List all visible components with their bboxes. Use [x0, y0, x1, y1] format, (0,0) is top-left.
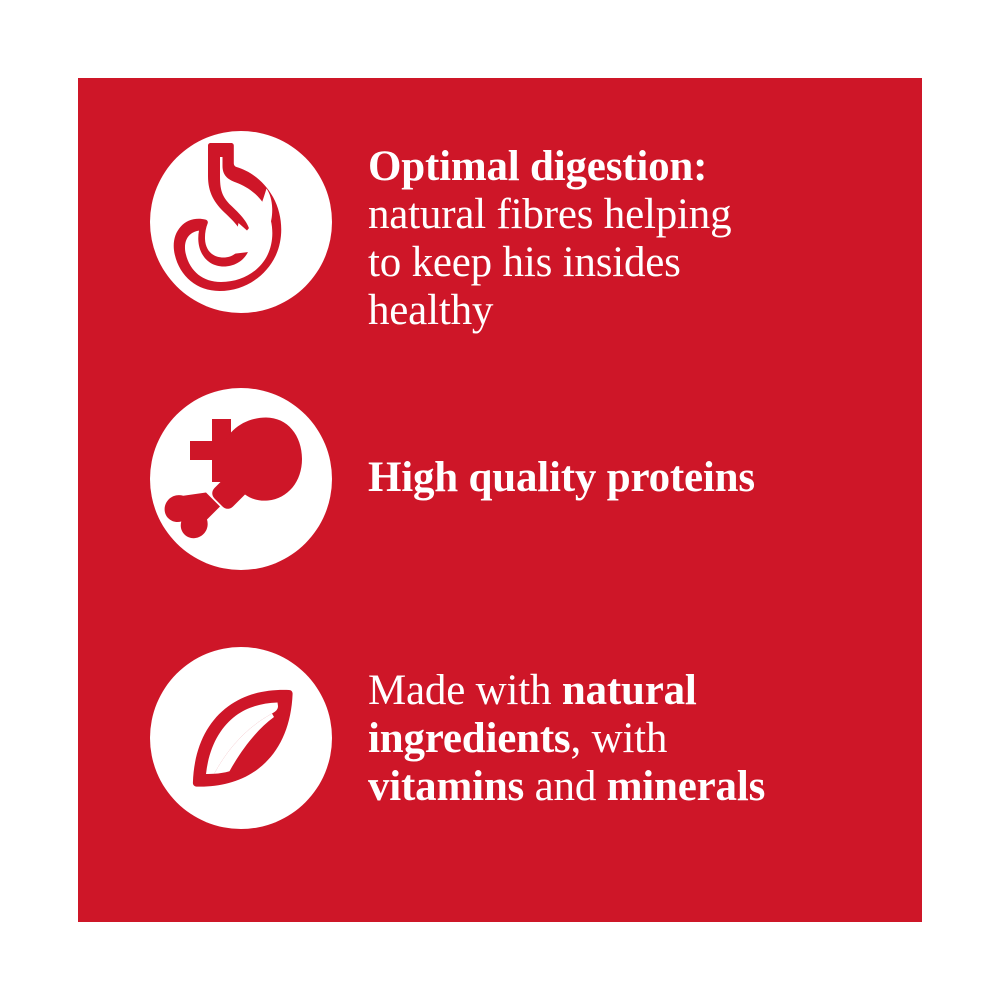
emphasis-text: ingredients — [368, 715, 570, 762]
benefit-text-line: High quality proteins — [368, 454, 910, 502]
product-benefits-panel: Optimal digestion:natural fibres helping… — [0, 0, 1000, 1000]
benefit-text-line: to keep his insides — [368, 239, 910, 287]
benefit-text-line: natural fibres helping — [368, 191, 910, 239]
plain-text: natural fibres helping — [368, 191, 731, 238]
benefit-text-line: healthy — [368, 287, 910, 335]
benefit-row-digestion: Optimal digestion:natural fibres helping… — [150, 131, 910, 336]
benefit-text-digestion: Optimal digestion:natural fibres helping… — [332, 131, 910, 336]
benefit-text-line: Optimal digestion: — [368, 143, 910, 191]
stomach-digestion-icon — [150, 131, 332, 313]
chicken-drumstick-plus-icon — [150, 388, 332, 570]
benefit-row-natural-ingredients: Made with naturalingredients, withvitami… — [150, 647, 910, 829]
benefit-text-proteins: High quality proteins — [332, 388, 910, 502]
plain-text: Made with — [368, 667, 562, 714]
plain-text: and — [524, 763, 607, 810]
benefit-icon-wrapper — [150, 647, 332, 829]
benefit-text-line: Made with natural — [368, 667, 910, 715]
plain-text: to keep his insides — [368, 239, 681, 286]
red-background-panel: Optimal digestion:natural fibres helping… — [78, 78, 922, 922]
benefit-text-line: vitamins and minerals — [368, 763, 910, 811]
benefit-text-line: ingredients, with — [368, 715, 910, 763]
benefit-icon-wrapper — [150, 131, 332, 313]
leaf-natural-icon — [150, 647, 332, 829]
benefit-text-natural-ingredients: Made with naturalingredients, withvitami… — [332, 647, 910, 811]
benefit-row-proteins: High quality proteins — [150, 388, 910, 570]
benefit-icon-wrapper — [150, 388, 332, 570]
emphasis-text: Optimal digestion: — [368, 143, 707, 190]
plain-text: , with — [570, 715, 667, 762]
plain-text: healthy — [368, 287, 493, 334]
emphasis-text: vitamins — [368, 763, 524, 810]
emphasis-text: High quality proteins — [368, 454, 755, 501]
emphasis-text: natural — [562, 667, 697, 714]
emphasis-text: minerals — [607, 763, 765, 810]
